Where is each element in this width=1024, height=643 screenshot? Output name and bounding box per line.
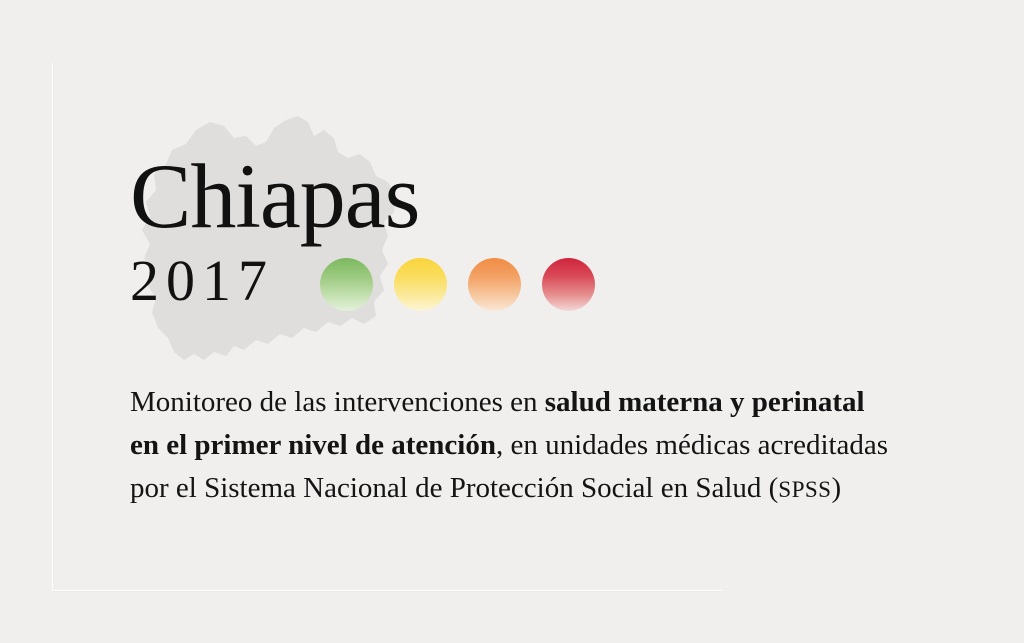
masthead: Chiapas 2017 Monitoreo de las intervenci… [0,0,1024,643]
indicator-dot-yellow [394,258,447,311]
cover-page: Chiapas 2017 Monitoreo de las intervenci… [0,0,1024,643]
title-block: Chiapas 2017 [130,148,690,311]
subtitle-line3-close-paren: ) [831,472,841,504]
subtitle-line1-regular: Monitoreo de las intervenciones en [130,386,545,418]
cover-year: 2017 [130,251,320,311]
indicator-dot-orange [468,258,521,311]
subtitle-line1-bold: salud materna y perinatal [545,386,865,418]
indicator-dot-red [542,258,595,311]
page-title: Chiapas [130,148,690,244]
year-and-dots-row: 2017 [130,250,690,311]
indicator-dot-group [320,258,595,311]
subtitle-acronym-spss: SPSS [778,477,831,503]
indicator-dot-green [320,258,373,311]
subtitle-line2-bold: en el primer nivel de atención [130,429,496,461]
subtitle-line2-regular: , en unidades médicas acreditadas [496,429,888,461]
subtitle-line3-regular: por el Sistema Nacional de Protección So… [130,472,778,504]
cover-subtitle: Monitoreo de las intervenciones en salud… [130,381,970,512]
